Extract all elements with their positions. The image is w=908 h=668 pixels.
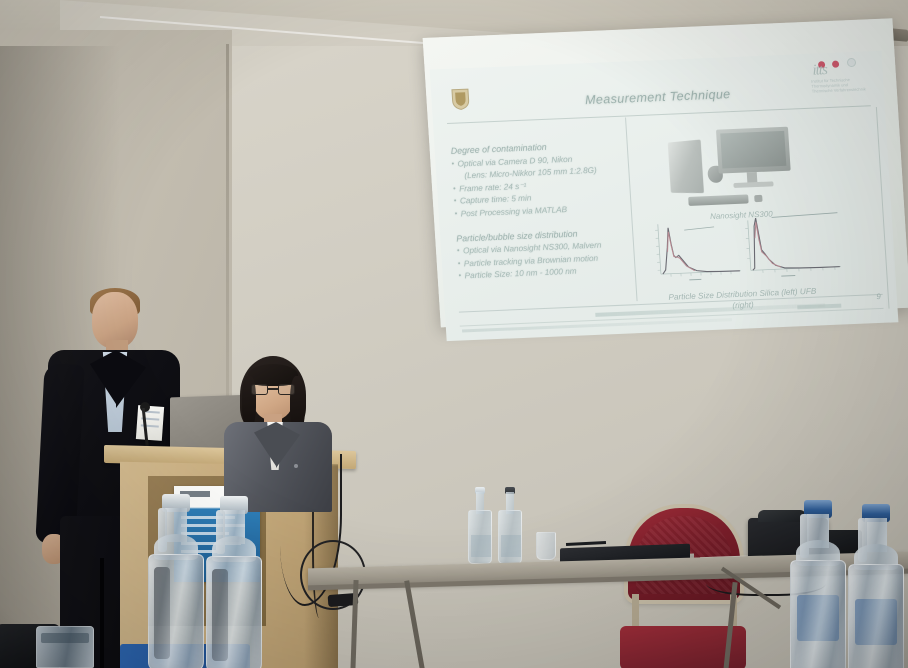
slide-number: 9 <box>876 292 881 301</box>
projection-screen: itts Institut für Technische Thermodynam… <box>421 0 908 329</box>
screen-surface: itts Institut für Technische Thermodynam… <box>423 18 908 327</box>
speaker-at-podium <box>218 356 338 506</box>
foreground-glass <box>36 626 94 668</box>
slide-title: Measurement Technique <box>432 81 885 114</box>
table-bottle-right <box>498 482 522 564</box>
foreground-bottle-4 <box>848 492 904 668</box>
foreground-bottle-1 <box>148 492 204 668</box>
logo-wordmark: itts <box>812 62 827 80</box>
instrument-photo: Nanosight NS300 <box>646 119 831 212</box>
conference-room-photo: itts Institut für Technische Thermodynam… <box>0 0 908 668</box>
drinking-glass <box>536 532 556 560</box>
glasses-icon <box>251 384 295 395</box>
bottle-body <box>498 510 522 564</box>
accessory-chip <box>754 195 762 202</box>
table-leg-1 <box>350 580 358 668</box>
sample-cartridge <box>688 194 749 205</box>
table-bottle-left <box>468 488 492 564</box>
plot-svg <box>641 210 850 290</box>
bottle-body <box>148 554 204 668</box>
bottle-body <box>848 564 904 668</box>
slide-number-divider <box>876 107 890 309</box>
bottle-body <box>468 510 492 564</box>
slide-left-column: Degree of contamination Optical via Came… <box>450 138 631 284</box>
particle-size-plots <box>641 210 850 290</box>
nanosight-unit <box>668 139 704 193</box>
name-badge <box>136 405 164 441</box>
foreground-bottle-3 <box>790 492 846 668</box>
monitor <box>716 127 791 174</box>
slide-footer-date <box>797 304 841 310</box>
presentation-slide: itts Institut für Technische Thermodynam… <box>430 51 899 341</box>
foreground-bottle-2 <box>206 498 262 668</box>
bottle-body <box>790 560 846 668</box>
bottle-body <box>206 556 262 668</box>
table-leg-2 <box>404 580 425 668</box>
table-leg-3 <box>723 582 737 668</box>
monitor-base <box>733 181 773 188</box>
blazer-button <box>294 464 298 468</box>
